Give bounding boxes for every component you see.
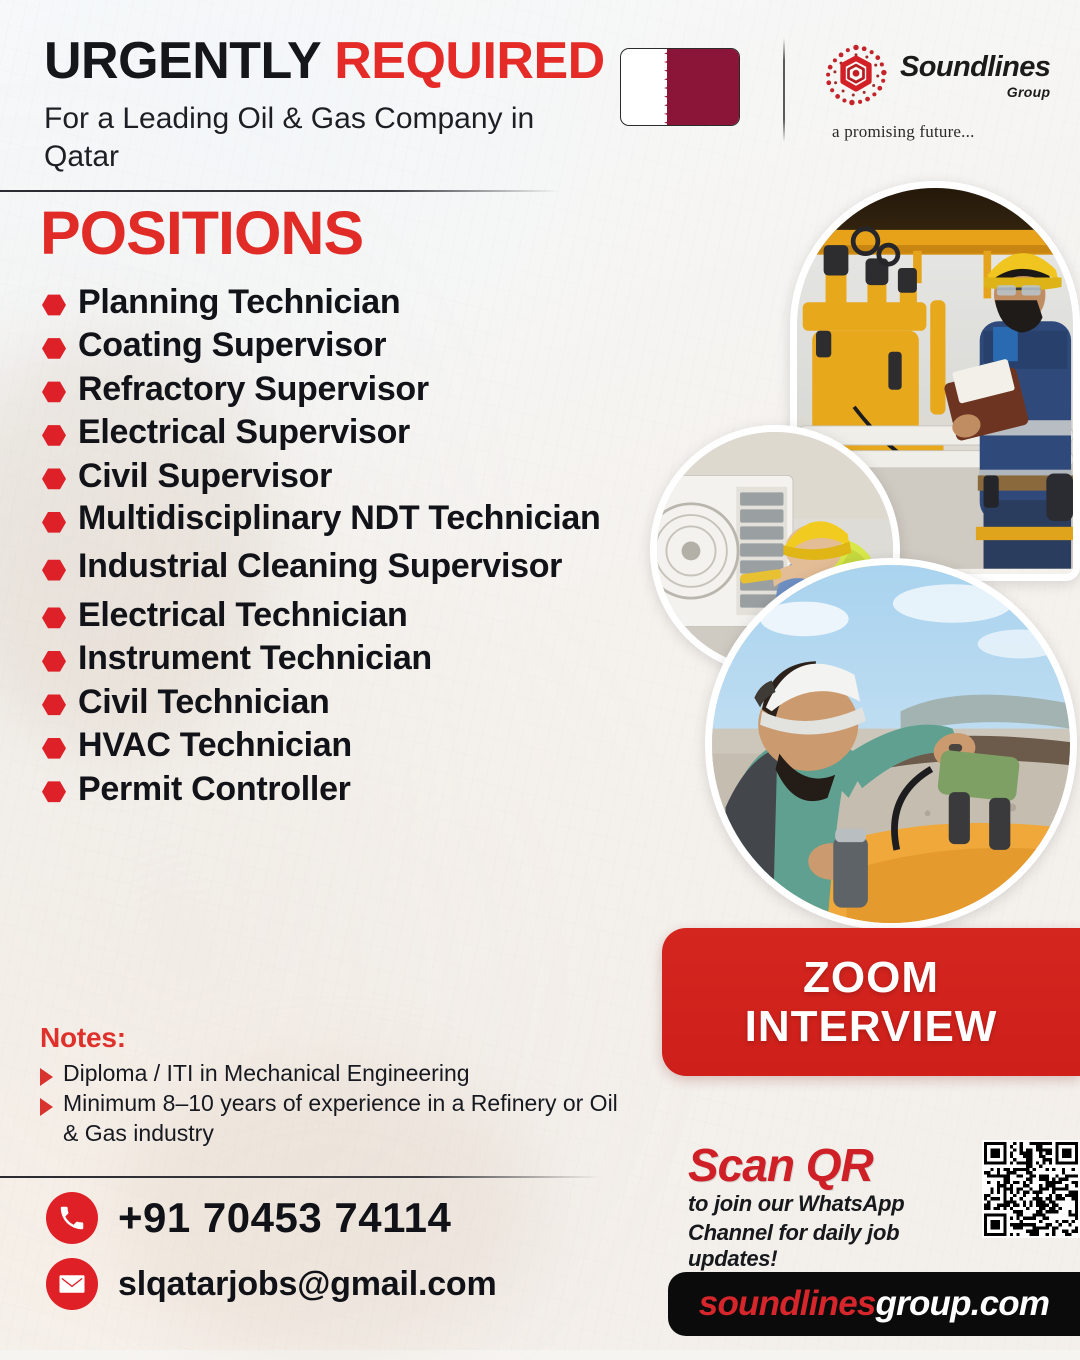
position-label: HVAC Technician xyxy=(78,725,352,766)
position-item: Electrical Supervisor xyxy=(42,412,602,453)
qr-subline-2: Channel for daily job updates! xyxy=(688,1220,970,1273)
email-icon xyxy=(46,1258,98,1310)
qr-subline-1: to join our WhatsApp xyxy=(688,1191,970,1217)
notes-section: Notes: Diploma / ITI in Mechanical Engin… xyxy=(40,1022,620,1149)
notes-heading: Notes: xyxy=(40,1022,620,1054)
position-item: Electrical Technician xyxy=(42,595,602,636)
position-item: Industrial Cleaning Supervisor xyxy=(42,547,602,587)
contact-section: +91 70453 74114 slqatarjobs@gmail.com xyxy=(46,1192,497,1324)
hexagon-bullet-icon xyxy=(42,511,66,533)
position-label: Permit Controller xyxy=(78,769,351,810)
position-item: Planning Technician xyxy=(42,282,602,323)
right-media-column: Soundlines Group a promising future... xyxy=(640,0,1080,1350)
position-label: Planning Technician xyxy=(78,282,400,323)
notes-list: Diploma / ITI in Mechanical EngineeringM… xyxy=(40,1059,620,1148)
position-label: Electrical Technician xyxy=(78,595,407,636)
position-label: Multidisciplinary NDT Technician xyxy=(78,499,601,539)
position-label: Industrial Cleaning Supervisor xyxy=(78,547,562,587)
logo-name: Soundlines xyxy=(900,53,1050,82)
hexagon-bullet-icon xyxy=(42,607,66,629)
divider-top xyxy=(0,190,560,192)
scan-qr-headline: Scan QR xyxy=(688,1144,970,1188)
hexagon-bullet-icon xyxy=(42,694,66,716)
hexagon-bullet-icon xyxy=(42,381,66,403)
logo-subname: Group xyxy=(900,84,1050,100)
page-subtitle: For a Leading Oil & Gas Company in Qatar xyxy=(44,100,604,175)
qatar-flag-icon xyxy=(620,48,740,126)
position-item: Multidisciplinary NDT Technician xyxy=(42,499,602,539)
email-address: slqatarjobs@gmail.com xyxy=(118,1265,497,1304)
scan-qr-section: Scan QR to join our WhatsApp Channel for… xyxy=(688,1140,1080,1273)
position-item: Refractory Supervisor xyxy=(42,369,602,410)
qr-code-icon[interactable] xyxy=(982,1140,1080,1238)
hexagon-bullet-icon xyxy=(42,337,66,359)
website-name-white: group.com xyxy=(876,1284,1050,1324)
brand-bar: Soundlines Group a promising future... xyxy=(540,38,1080,148)
note-text: Minimum 8–10 years of experience in a Re… xyxy=(63,1089,620,1148)
zoom-label: ZOOM xyxy=(803,953,939,1002)
position-label: Civil Technician xyxy=(78,682,330,723)
email-row[interactable]: slqatarjobs@gmail.com xyxy=(46,1258,497,1310)
hexagon-bullet-icon xyxy=(42,468,66,490)
position-label: Civil Supervisor xyxy=(78,456,332,497)
soundlines-wordmark: Soundlines Group xyxy=(900,53,1050,100)
title-urgently: URGENTLY xyxy=(44,32,320,90)
brand-divider xyxy=(783,38,785,142)
photo-ndt-technician-image xyxy=(712,565,1070,923)
note-text: Diploma / ITI in Mechanical Engineering xyxy=(63,1059,470,1088)
soundlines-logo: Soundlines Group xyxy=(822,42,1050,110)
position-label: Electrical Supervisor xyxy=(78,412,410,453)
phone-icon xyxy=(46,1192,98,1244)
position-item: Civil Technician xyxy=(42,682,602,723)
website-name-red: soundlines xyxy=(699,1284,876,1324)
position-label: Coating Supervisor xyxy=(78,325,386,366)
note-item: Diploma / ITI in Mechanical Engineering xyxy=(40,1059,620,1088)
interview-label: INTERVIEW xyxy=(745,1002,998,1051)
hexagon-bullet-icon xyxy=(42,650,66,672)
qr-text-block: Scan QR to join our WhatsApp Channel for… xyxy=(688,1140,970,1273)
triangle-bullet-icon xyxy=(40,1068,53,1086)
zoom-interview-banner[interactable]: ZOOM INTERVIEW xyxy=(662,928,1080,1076)
phone-row[interactable]: +91 70453 74114 xyxy=(46,1192,497,1244)
position-label: Refractory Supervisor xyxy=(78,369,429,410)
position-item: Permit Controller xyxy=(42,769,602,810)
position-item: Instrument Technician xyxy=(42,638,602,679)
positions-list: Planning TechnicianCoating SupervisorRef… xyxy=(42,282,602,812)
left-content-column: URGENTLY REQUIRED For a Leading Oil & Ga… xyxy=(0,0,640,1350)
hexagon-bullet-icon xyxy=(42,294,66,316)
hexagon-bullet-icon xyxy=(42,559,66,581)
divider-bottom xyxy=(0,1176,600,1178)
hexagon-bullet-icon xyxy=(42,781,66,803)
website-bar[interactable]: soundlines group.com xyxy=(668,1272,1080,1336)
soundlines-logo-mark xyxy=(822,42,890,110)
position-item: Coating Supervisor xyxy=(42,325,602,366)
hexagon-bullet-icon xyxy=(42,424,66,446)
hexagon-bullet-icon xyxy=(42,737,66,759)
brand-tagline: a promising future... xyxy=(832,122,975,142)
position-label: Instrument Technician xyxy=(78,638,432,679)
position-item: Civil Supervisor xyxy=(42,456,602,497)
photo-ndt-technician xyxy=(705,558,1077,930)
phone-number: +91 70453 74114 xyxy=(118,1194,451,1242)
positions-heading: POSITIONS xyxy=(40,203,363,264)
triangle-bullet-icon xyxy=(40,1098,53,1116)
note-item: Minimum 8–10 years of experience in a Re… xyxy=(40,1089,620,1148)
position-item: HVAC Technician xyxy=(42,725,602,766)
